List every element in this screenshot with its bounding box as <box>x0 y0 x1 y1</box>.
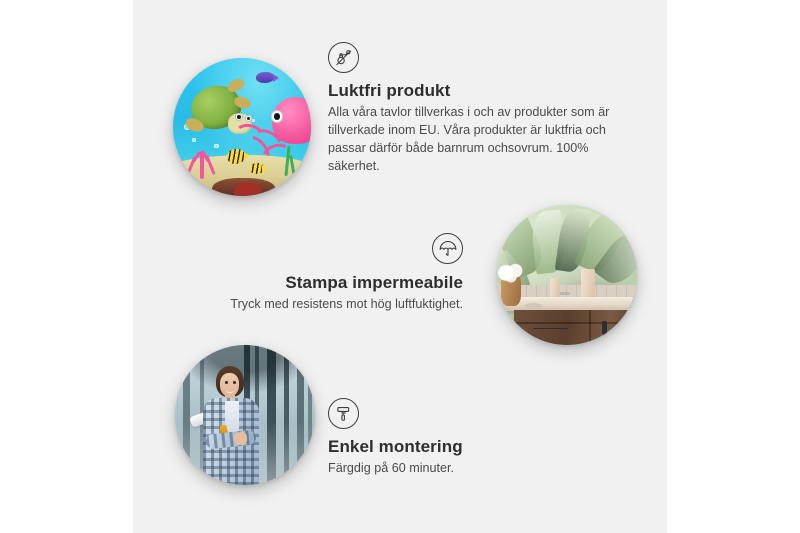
cabinet-seam <box>589 310 591 345</box>
feature-description: Tryck med resistens mot hög luftfuktighe… <box>193 296 463 314</box>
feature-waterproof: Stampa impermeabile Tryck med resistens … <box>193 233 463 314</box>
feature-title: Stampa impermeabile <box>193 272 463 293</box>
bubble-icon <box>252 119 255 122</box>
turtle-eye <box>235 113 243 121</box>
woman-eye <box>225 381 228 383</box>
content-stage: Luktfri produkt Alla våra tavlor tillver… <box>133 0 667 533</box>
soap-dish <box>525 303 542 309</box>
product-feature-panel: Luktfri produkt Alla våra tavlor tillver… <box>0 0 800 533</box>
paint-roller-icon <box>328 398 359 429</box>
no-spray-bottle-icon <box>328 42 359 73</box>
sea-scene <box>173 58 311 196</box>
feature-description: Färgdig på 60 minuter. <box>328 460 608 478</box>
cabinet-seam <box>514 322 637 324</box>
woman-smile <box>226 388 234 393</box>
bathroom-scene <box>497 205 637 345</box>
coral <box>184 144 220 180</box>
feature-title: Enkel montering <box>328 436 608 457</box>
right-page-margin <box>667 0 800 533</box>
drawer-handle <box>533 328 568 329</box>
flowers <box>497 261 525 283</box>
woman-hand <box>233 431 247 445</box>
left-page-margin <box>0 0 133 533</box>
forest-canopy <box>175 345 315 393</box>
fish-icon <box>256 72 274 83</box>
umbrella-icon <box>432 233 463 264</box>
woman-eye <box>233 381 236 383</box>
feature-title: Luktfri produkt <box>328 80 624 101</box>
product-image-sea[interactable] <box>173 58 311 196</box>
feature-assembly: Enkel montering Färgdig på 60 minuter. <box>328 398 608 478</box>
fish-icon <box>250 163 264 174</box>
door-handle <box>602 321 607 335</box>
product-image-bathroom[interactable] <box>497 205 637 345</box>
woman-scene <box>175 345 315 485</box>
feature-odorless: Luktfri produkt Alla våra tavlor tillver… <box>328 42 624 176</box>
bubble-icon <box>192 138 196 142</box>
fish-icon <box>227 149 245 164</box>
feature-description: Alla våra tavlor tillverkas i och av pro… <box>328 104 624 176</box>
product-image-woman[interactable] <box>175 345 315 485</box>
vanity-cabinet <box>514 310 637 345</box>
sea-rock <box>234 182 262 196</box>
